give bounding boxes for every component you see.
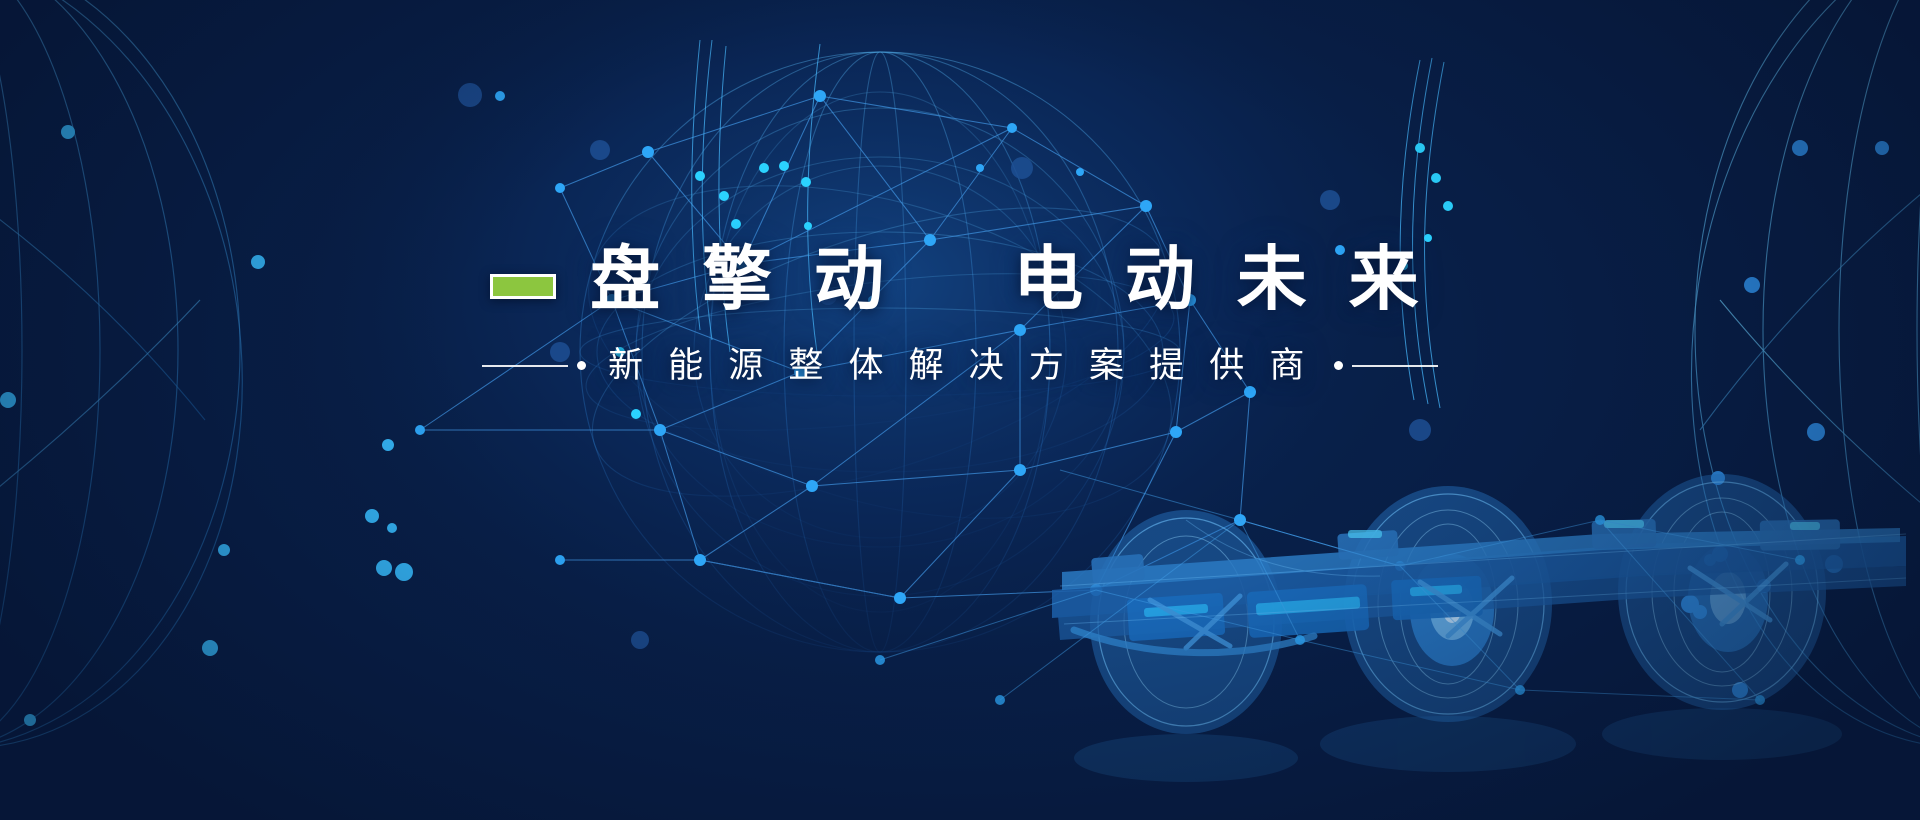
right-rule-decoration — [1334, 361, 1438, 370]
electric-vehicle-chassis — [1052, 474, 1906, 782]
wireframe-sphere-left — [0, 0, 293, 788]
green-accent-bar — [490, 274, 556, 299]
rule-dot-left — [577, 361, 586, 370]
left-rule-decoration — [482, 361, 586, 370]
subtitle-row: 新 能 源 整 体 解 决 方 案 提 供 商 — [0, 348, 1920, 383]
headline-row: 盘 擎 动 电 动 未 来 — [0, 236, 1920, 322]
rule-line-left — [482, 365, 568, 367]
subtitle-text: 新 能 源 整 体 解 决 方 案 提 供 商 — [608, 348, 1312, 383]
background-network-graphics — [0, 0, 1920, 820]
banner-hero: 盘 擎 动 电 动 未 来 新 能 源 整 体 解 决 方 案 提 供 商 — [0, 0, 1920, 820]
rule-dot-right — [1334, 361, 1343, 370]
rule-line-right — [1352, 365, 1438, 367]
hero-text-block: 盘 擎 动 电 动 未 来 新 能 源 整 体 解 决 方 案 提 供 商 — [0, 236, 1920, 383]
headline-secondary: 电 动 未 来 — [1013, 244, 1430, 314]
headline-primary: 盘 擎 动 — [590, 244, 895, 314]
